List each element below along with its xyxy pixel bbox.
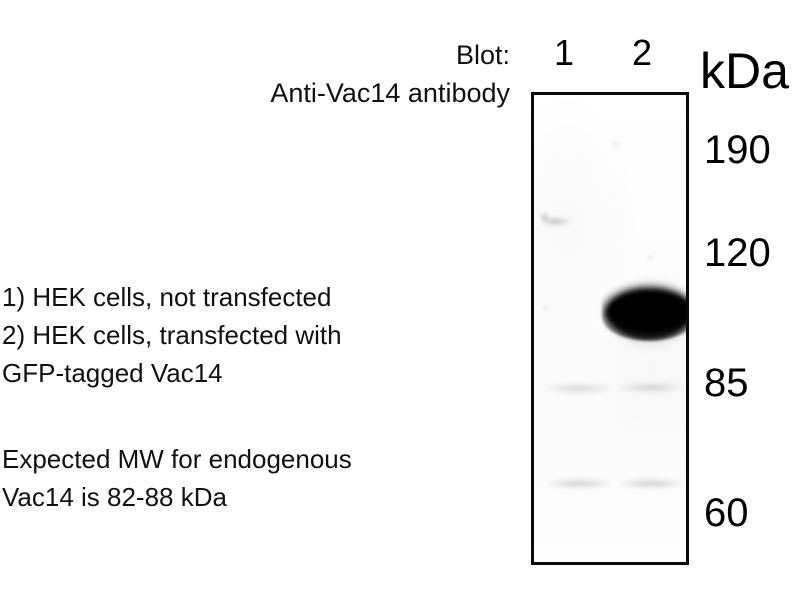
mw-marker-85: 85 — [704, 361, 749, 405]
lane-number-2: 2 — [622, 33, 662, 73]
blot-band-85-lane2 — [618, 382, 684, 393]
description-line-expected-mw-a: Expected MW for endogenous — [2, 443, 352, 475]
description-line-lane2-b: GFP-tagged Vac14 — [2, 357, 223, 389]
blot-band-85-lane1 — [546, 383, 612, 394]
description-line-lane1: 1) HEK cells, not transfected — [2, 281, 331, 313]
blot-band-60-lane2 — [618, 478, 684, 489]
blot-label: Blot: — [140, 38, 510, 72]
description-line-lane2-a: 2) HEK cells, transfected with — [2, 319, 342, 351]
membrane-speck-mid-icon — [646, 255, 654, 261]
description-line-expected-mw-b: Vac14 is 82-88 kDa — [2, 481, 227, 513]
western-blot-figure: Blot: Anti-Vac14 antibody 1 2 kDa 190 12… — [0, 0, 800, 600]
blot-band-60-lane1 — [546, 478, 612, 489]
mw-marker-190: 190 — [704, 128, 771, 172]
membrane-speck-icon — [612, 141, 619, 147]
blot-band-main-core — [606, 291, 689, 331]
blot-membrane — [531, 92, 689, 565]
kda-unit-label: kDa — [700, 42, 789, 100]
antibody-label: Anti-Vac14 antibody — [140, 76, 510, 110]
mw-marker-60: 60 — [704, 491, 749, 535]
membrane-dot-icon — [540, 213, 549, 221]
membrane-speck-low-icon — [542, 305, 549, 311]
lane-number-1: 1 — [544, 33, 584, 73]
mw-marker-120: 120 — [704, 231, 771, 275]
